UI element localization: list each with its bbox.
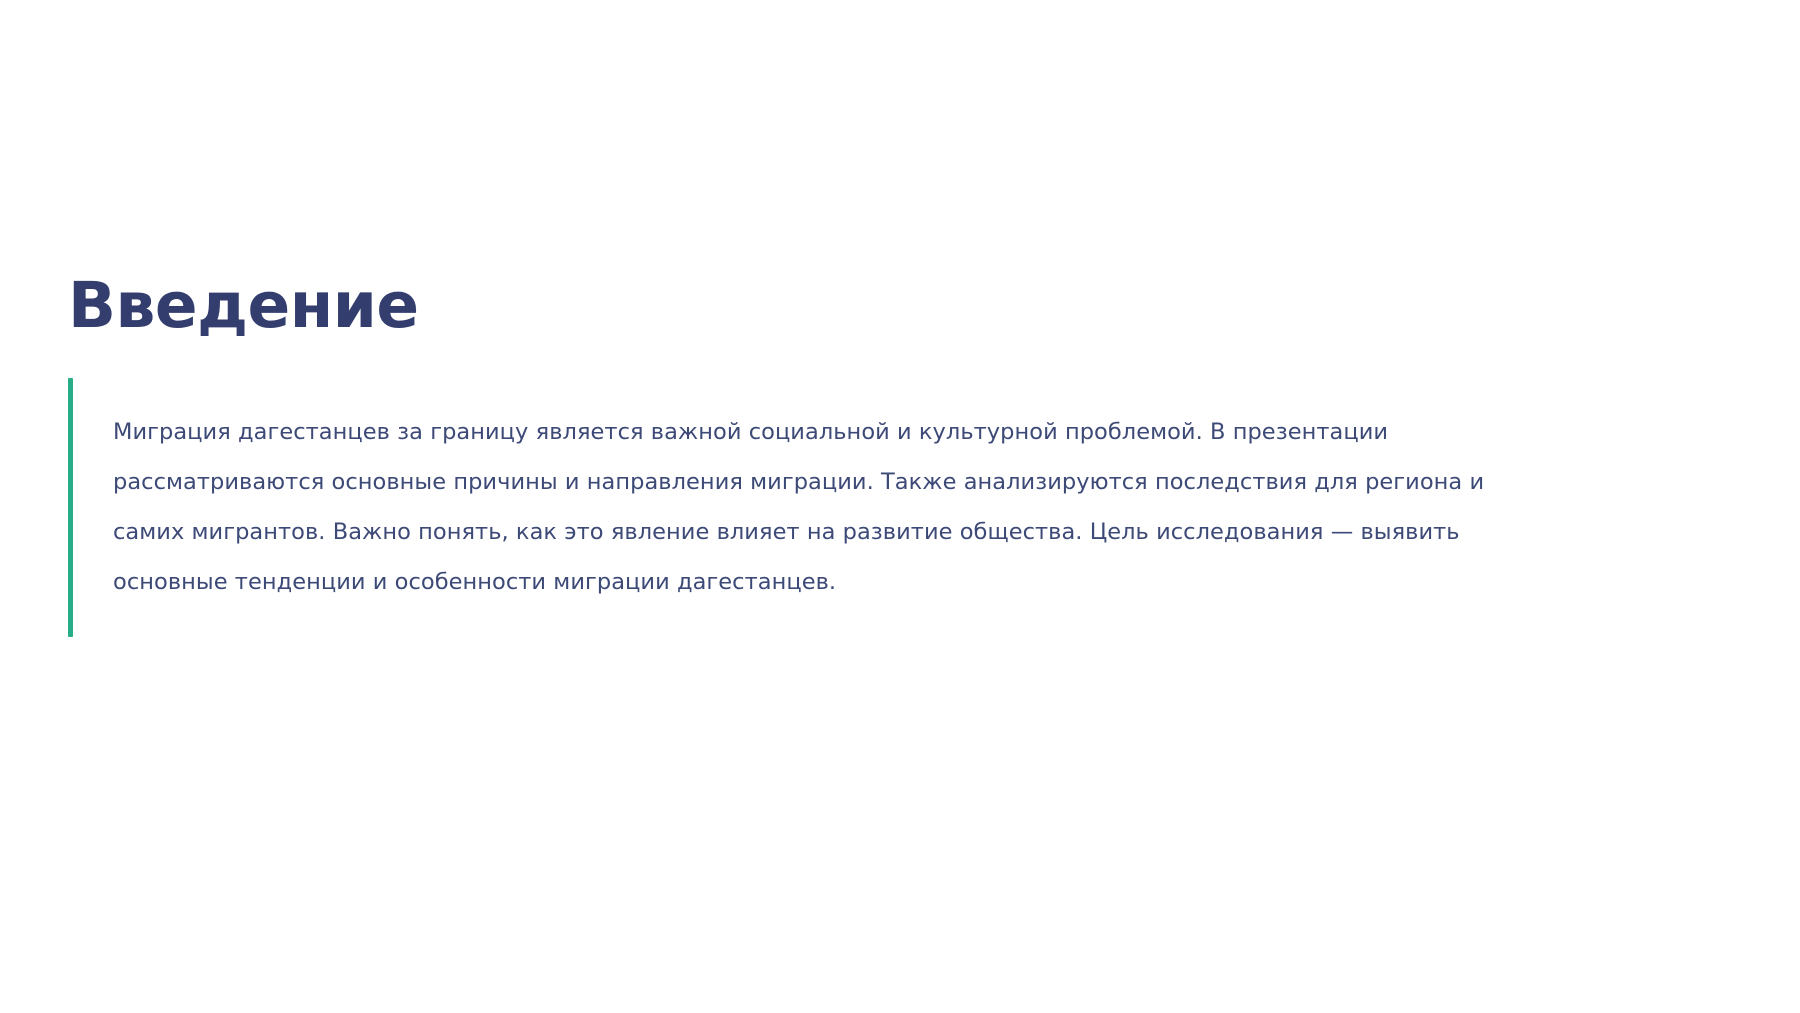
accent-bar [68,378,73,637]
slide-content: Введение Миграция дагестанцев за границу… [68,272,1748,637]
body-paragraph: Миграция дагестанцев за границу является… [113,401,1503,615]
page-title: Введение [68,272,1748,340]
body-block: Миграция дагестанцев за границу является… [68,378,1748,637]
slide: Введение Миграция дагестанцев за границу… [0,0,1800,1013]
